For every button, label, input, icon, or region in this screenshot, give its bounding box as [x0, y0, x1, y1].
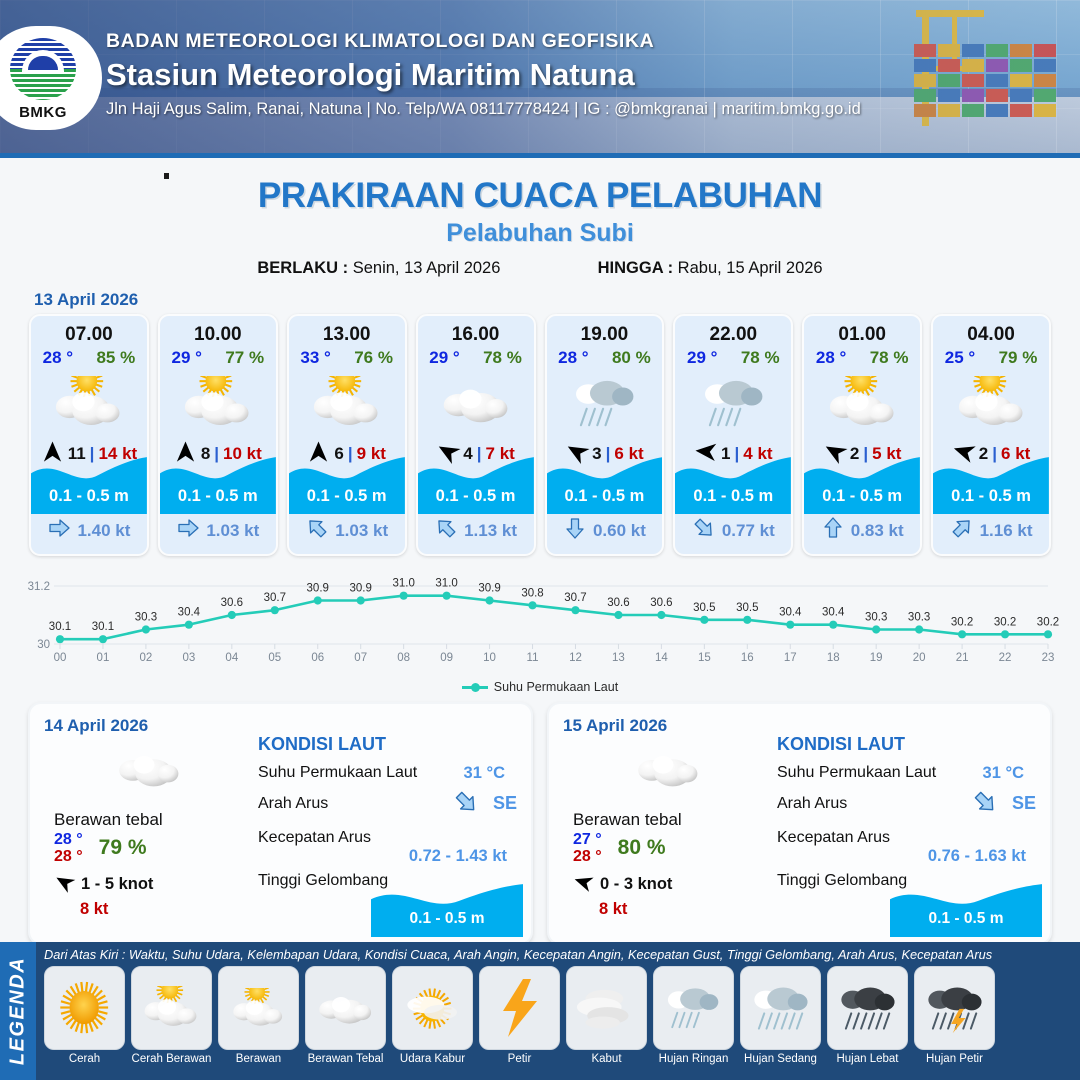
air-temperature: 28 °: [43, 348, 73, 368]
legend-item-label: Kabut: [566, 1053, 647, 1065]
sst-value: 31 °C: [464, 764, 505, 783]
svg-text:20: 20: [913, 652, 926, 664]
wind-direction-arrow-icon: [54, 872, 74, 897]
bmkg-logo: BMKG: [0, 26, 102, 130]
legend-item-label: Hujan Petir: [914, 1053, 995, 1065]
svg-text:30.9: 30.9: [478, 583, 500, 595]
svg-text:30.1: 30.1: [49, 621, 71, 633]
humidity: 78 %: [870, 348, 909, 368]
haze-icon: [392, 966, 473, 1050]
legend-item: Berawan Tebal: [305, 966, 386, 1065]
humidity: 77 %: [225, 348, 264, 368]
current-speed: 1.40 kt: [77, 521, 130, 541]
legend-item-list: Cerah Cerah Berawan: [44, 966, 1074, 1065]
svg-text:18: 18: [827, 652, 840, 664]
temp-max: 28 °: [54, 848, 83, 865]
svg-text:30.4: 30.4: [822, 607, 845, 619]
svg-text:01: 01: [97, 652, 110, 664]
port-subtitle: Pelabuhan Subi: [0, 219, 1080, 248]
moderate-rain-icon: [740, 966, 821, 1050]
summary-gust: 8 kt: [599, 900, 763, 919]
svg-text:30.7: 30.7: [564, 592, 586, 604]
svg-text:11: 11: [527, 652, 539, 664]
daily-summary-card: 15 April 2026 Berawan tebal 27 ° 28 ° 80…: [547, 702, 1052, 945]
wave-height: 0.1 - 0.5 m: [289, 487, 405, 506]
air-temperature: 28 °: [558, 348, 588, 368]
wind-speed-range: 1 - 5 knot: [81, 875, 153, 894]
wave-height-label: Tinggi Gelombang: [777, 872, 907, 889]
sea-condition-title: KONDISI LAUT: [258, 734, 519, 755]
humidity: 79 %: [999, 348, 1038, 368]
svg-text:30.5: 30.5: [736, 602, 758, 614]
legend-item: Berawan: [218, 966, 299, 1065]
svg-text:30.6: 30.6: [221, 597, 243, 609]
header-divider: [0, 153, 1080, 158]
svg-text:30.4: 30.4: [779, 607, 802, 619]
current-speed: 1.03 kt: [206, 521, 259, 541]
svg-text:21: 21: [956, 652, 969, 664]
partly-cloudy-icon: [933, 372, 1049, 434]
forecast-day-label: 13 April 2026: [34, 290, 1080, 310]
legend-item-label: Hujan Sedang: [740, 1053, 821, 1065]
svg-text:30.3: 30.3: [908, 612, 930, 624]
legend-item: Petir: [479, 966, 560, 1065]
valid-until-value: Rabu, 15 April 2026: [678, 259, 823, 277]
heavy-rain-icon: [827, 966, 908, 1050]
legend-section: LEGENDA Dari Atas Kiri : Waktu, Suhu Uda…: [0, 942, 1080, 1080]
wave-height: 0.1 - 0.5 m: [804, 487, 920, 506]
legend-item: Kabut: [566, 966, 647, 1065]
legend-body: Dari Atas Kiri : Waktu, Suhu Udara, Kele…: [36, 942, 1080, 1080]
svg-text:22: 22: [999, 652, 1012, 664]
forecast-card-row: 07.00 28 ° 85 % 11 |: [0, 314, 1080, 556]
current-speed: 1.16 kt: [980, 521, 1033, 541]
humidity: 80 %: [612, 348, 651, 368]
svg-text:16: 16: [741, 652, 754, 664]
wave-height: 0.1 - 0.5 m: [675, 487, 791, 506]
svg-text:14: 14: [655, 652, 668, 664]
daily-summary-card: 14 April 2026 Berawan tebal 28 ° 28 ° 79…: [28, 702, 533, 945]
svg-text:07: 07: [354, 652, 367, 664]
svg-text:23: 23: [1042, 652, 1055, 664]
valid-from-value: Senin, 13 April 2026: [353, 259, 501, 277]
current-direction-label: Arah Arus: [258, 795, 328, 812]
svg-text:08: 08: [397, 652, 410, 664]
wave-height: 0.1 - 0.5 m: [160, 487, 276, 506]
legend-note: Dari Atas Kiri : Waktu, Suhu Udara, Kele…: [44, 947, 1074, 962]
svg-text:30.2: 30.2: [994, 616, 1016, 628]
legend-title: LEGENDA: [7, 957, 30, 1065]
svg-text:05: 05: [268, 652, 281, 664]
svg-text:03: 03: [182, 652, 195, 664]
sst-legend-marker-icon: [462, 686, 488, 689]
sst-label: Suhu Permukaan Laut: [777, 764, 936, 781]
air-temperature: 29 °: [172, 348, 202, 368]
legend-item-label: Hujan Lebat: [827, 1053, 908, 1065]
forecast-card: 01.00 28 ° 78 % 2 |: [802, 314, 922, 556]
svg-text:30.3: 30.3: [135, 612, 157, 624]
valid-until-label: HINGGA :: [598, 259, 673, 277]
svg-text:17: 17: [784, 652, 797, 664]
svg-text:31.0: 31.0: [435, 578, 457, 590]
forecast-time: 10.00: [194, 324, 242, 346]
svg-text:30.9: 30.9: [307, 583, 329, 595]
wave-height-label: Tinggi Gelombang: [258, 872, 388, 889]
wind-direction-arrow-icon: [573, 872, 593, 897]
thunderstorm-icon: [914, 966, 995, 1050]
summary-wave-height: 0.1 - 0.5 m: [890, 910, 1042, 928]
svg-text:30.7: 30.7: [264, 592, 286, 604]
partly-cloudy-icon: [804, 372, 920, 434]
wave-band-icon: 0.1 - 0.5 m: [890, 883, 1042, 937]
temp-min: 27 °: [573, 831, 602, 848]
svg-text:04: 04: [225, 652, 238, 664]
legend-item-label: Petir: [479, 1053, 560, 1065]
weather-condition: Berawan tebal: [573, 810, 763, 830]
legend-item-label: Cerah Berawan: [131, 1053, 212, 1065]
forecast-time: 22.00: [710, 324, 758, 346]
svg-text:19: 19: [870, 652, 883, 664]
summary-wave-height: 0.1 - 0.5 m: [371, 910, 523, 928]
forecast-time: 19.00: [581, 324, 629, 346]
forecast-card: 07.00 28 ° 85 % 11 |: [29, 314, 149, 556]
forecast-card: 13.00 33 ° 76 % 6 |: [287, 314, 407, 556]
summary-gust: 8 kt: [80, 900, 244, 919]
wave-height: 0.1 - 0.5 m: [31, 487, 147, 506]
forecast-time: 13.00: [323, 324, 371, 346]
validity-row: BERLAKU : Senin, 13 April 2026 HINGGA : …: [0, 259, 1080, 278]
header-text-block: BADAN METEOROLOGI KLIMATOLOGI DAN GEOFIS…: [106, 30, 861, 119]
svg-text:30.5: 30.5: [693, 602, 715, 614]
current-direction-arrow-icon: [305, 516, 329, 545]
summary-date: 15 April 2026: [563, 716, 1036, 736]
sst-chart: 3031.20001020304050607080910111213141516…: [0, 570, 1080, 678]
legend-item-label: Udara Kabur: [392, 1053, 473, 1065]
light-rain-icon: [675, 372, 791, 434]
svg-text:13: 13: [612, 652, 625, 664]
current-direction-arrow-icon: [950, 516, 974, 545]
current-speed: 1.03 kt: [335, 521, 388, 541]
legend-item: Hujan Sedang: [740, 966, 821, 1065]
summary-humidity: 79 %: [99, 836, 147, 860]
page-header: BMKG BADAN METEOROLOGI KLIMATOLOGI DAN G…: [0, 0, 1080, 158]
contact-line: Jln Haji Agus Salim, Ranai, Natuna | No.…: [106, 100, 861, 119]
legend-item: Udara Kabur: [392, 966, 473, 1065]
valid-from-label: BERLAKU :: [257, 259, 348, 277]
current-speed: 0.60 kt: [593, 521, 646, 541]
legend-item-label: Berawan: [218, 1053, 299, 1065]
bmkg-logo-text: BMKG: [6, 104, 80, 121]
svg-text:10: 10: [483, 652, 496, 664]
weather-condition: Berawan tebal: [54, 810, 244, 830]
svg-text:30.9: 30.9: [350, 583, 372, 595]
current-speed: 1.13 kt: [464, 521, 517, 541]
air-temperature: 29 °: [687, 348, 717, 368]
current-direction-arrow-icon: [434, 516, 458, 545]
temp-max: 28 °: [573, 848, 602, 865]
humidity: 78 %: [483, 348, 522, 368]
current-direction-value: SE: [1012, 793, 1036, 814]
sst-value: 31 °C: [983, 764, 1024, 783]
page-title: PRAKIRAAN CUACA PELABUHAN: [0, 176, 1080, 216]
fog-icon: [566, 966, 647, 1050]
forecast-card: 19.00 28 ° 80 % 3 | 6 kt 0.1 - 0.5 m 0.6…: [545, 314, 665, 556]
svg-text:30.3: 30.3: [865, 612, 887, 624]
sun-cloud-icon: [131, 966, 212, 1050]
forecast-card: 22.00 29 ° 78 % 1 | 4 kt 0.1 - 0.5 m 0.7…: [673, 314, 793, 556]
air-temperature: 29 °: [429, 348, 459, 368]
forecast-time: 07.00: [65, 324, 113, 346]
wave-band-icon: 0.1 - 0.5 m: [371, 883, 523, 937]
current-direction-arrow-icon: [821, 516, 845, 545]
light-rain-icon: [653, 966, 734, 1050]
legend-item: Hujan Petir: [914, 966, 995, 1065]
partly-cloudy-icon: [289, 372, 405, 434]
legend-side-bar: LEGENDA: [0, 942, 36, 1080]
svg-text:00: 00: [54, 652, 67, 664]
title-block: PRAKIRAAN CUACA PELABUHAN Pelabuhan Subi…: [0, 158, 1080, 278]
current-speed: 0.83 kt: [851, 521, 904, 541]
wave-height: 0.1 - 0.5 m: [547, 487, 663, 506]
bmkg-logo-disc: [10, 38, 76, 100]
station-name: Stasiun Meteorologi Maritim Natuna: [106, 57, 861, 93]
humidity: 78 %: [741, 348, 780, 368]
svg-text:30.2: 30.2: [951, 616, 973, 628]
overcast-icon: [573, 740, 763, 798]
agency-name: BADAN METEOROLOGI KLIMATOLOGI DAN GEOFIS…: [106, 30, 861, 53]
current-direction-arrow-icon: [563, 516, 587, 545]
partly-cloudy-icon: [160, 372, 276, 434]
current-direction-arrow-icon: [453, 789, 479, 820]
partly-cloudy-icon: [31, 372, 147, 434]
current-direction-label: Arah Arus: [777, 795, 847, 812]
current-direction-arrow-icon: [176, 516, 200, 545]
sst-chart-legend: Suhu Permukaan Laut: [0, 680, 1080, 694]
current-direction-value: SE: [493, 793, 517, 814]
wind-speed-range: 0 - 3 knot: [600, 875, 672, 894]
summary-humidity: 80 %: [618, 836, 666, 860]
svg-text:31.2: 31.2: [28, 581, 50, 593]
current-speed-label: Kecepatan Arus: [258, 829, 371, 846]
forecast-time: 16.00: [452, 324, 500, 346]
svg-text:31.0: 31.0: [392, 578, 414, 590]
forecast-time: 04.00: [967, 324, 1015, 346]
svg-text:30.6: 30.6: [607, 597, 629, 609]
wave-height: 0.1 - 0.5 m: [933, 487, 1049, 506]
air-temperature: 33 °: [300, 348, 330, 368]
svg-text:30.8: 30.8: [521, 587, 543, 599]
humidity: 76 %: [354, 348, 393, 368]
current-speed-label: Kecepatan Arus: [777, 829, 890, 846]
svg-text:12: 12: [569, 652, 582, 664]
legend-item-label: Cerah: [44, 1053, 125, 1065]
current-speed: 0.77 kt: [722, 521, 775, 541]
svg-text:06: 06: [311, 652, 324, 664]
daily-summary-row: 14 April 2026 Berawan tebal 28 ° 28 ° 79…: [0, 694, 1080, 945]
partly-cloudy-icon: [218, 966, 299, 1050]
overcast-icon: [54, 740, 244, 798]
wave-height: 0.1 - 0.5 m: [418, 487, 534, 506]
sst-label: Suhu Permukaan Laut: [258, 764, 417, 781]
air-temperature: 25 °: [945, 348, 975, 368]
legend-item: Hujan Lebat: [827, 966, 908, 1065]
svg-text:30.2: 30.2: [1037, 616, 1059, 628]
svg-text:09: 09: [440, 652, 453, 664]
sun-icon: [44, 966, 125, 1050]
svg-text:30.6: 30.6: [650, 597, 672, 609]
svg-text:30.4: 30.4: [178, 607, 201, 619]
sea-condition-title: KONDISI LAUT: [777, 734, 1038, 755]
legend-item-label: Berawan Tebal: [305, 1053, 386, 1065]
humidity: 85 %: [96, 348, 135, 368]
legend-item: Cerah Berawan: [131, 966, 212, 1065]
cloudy-icon: [418, 372, 534, 434]
current-direction-arrow-icon: [972, 789, 998, 820]
current-direction-arrow-icon: [692, 516, 716, 545]
svg-text:30.1: 30.1: [92, 621, 114, 633]
forecast-card: 16.00 29 ° 78 % 4 | 7 kt 0.1 - 0.5 m 1.1…: [416, 314, 536, 556]
forecast-card: 04.00 25 ° 79 % 2 |: [931, 314, 1051, 556]
svg-text:02: 02: [140, 652, 153, 664]
legend-item: Hujan Ringan: [653, 966, 734, 1065]
summary-date: 14 April 2026: [44, 716, 517, 736]
lightning-icon: [479, 966, 560, 1050]
legend-item: Cerah: [44, 966, 125, 1065]
forecast-time: 01.00: [838, 324, 886, 346]
current-direction-arrow-icon: [47, 516, 71, 545]
air-temperature: 28 °: [816, 348, 846, 368]
light-rain-icon: [547, 372, 663, 434]
forecast-card: 10.00 29 ° 77 % 8 |: [158, 314, 278, 556]
legend-item-label: Hujan Ringan: [653, 1053, 734, 1065]
temp-min: 28 °: [54, 831, 83, 848]
overcast-icon: [305, 966, 386, 1050]
svg-text:15: 15: [698, 652, 711, 664]
sst-legend-label: Suhu Permukaan Laut: [494, 680, 618, 694]
stray-dot-artifact: [164, 173, 169, 179]
svg-text:30: 30: [37, 639, 50, 651]
